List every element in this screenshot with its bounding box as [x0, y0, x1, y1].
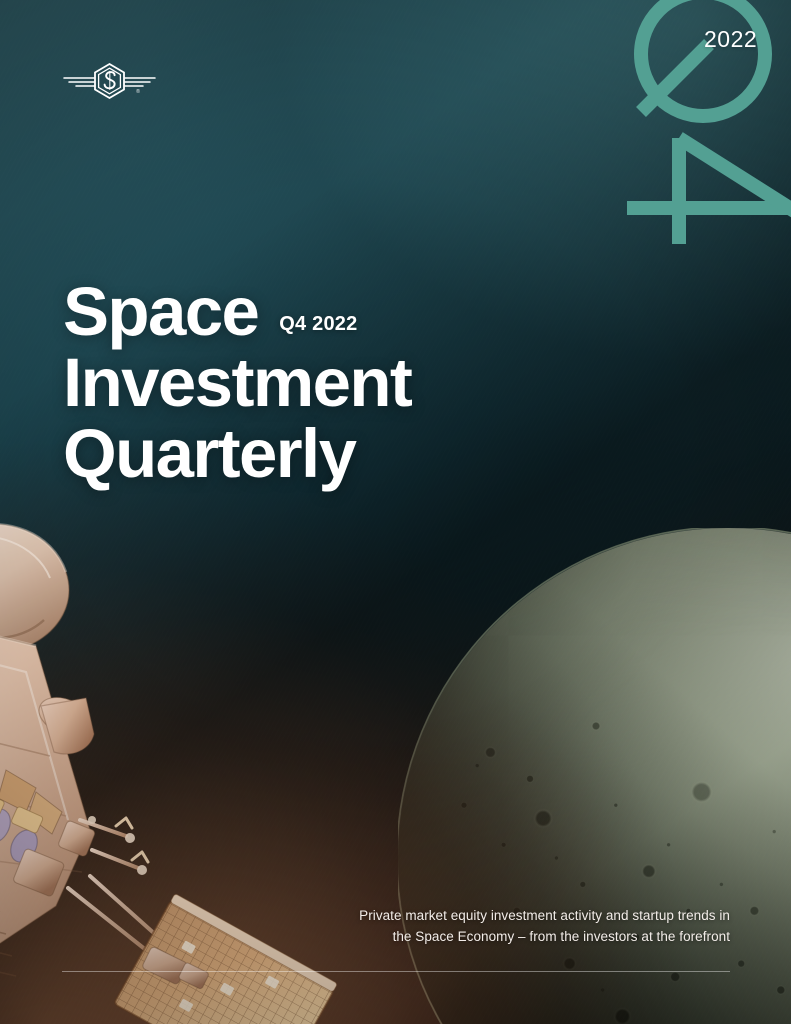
title-first-row: Space Q4 2022 — [63, 276, 703, 347]
subtitle-line-1: Private market equity investment activit… — [260, 905, 730, 926]
trademark-symbol: ® — [136, 88, 140, 95]
brand-logo[interactable]: ® — [63, 62, 156, 100]
cover-subtitle: Private market equity investment activit… — [260, 905, 730, 947]
page-title-line-2: Investment — [63, 347, 703, 418]
year-label: 2022 — [704, 26, 757, 53]
cover-title-block: Space Q4 2022 Investment Quarterly — [63, 276, 703, 489]
quarter-kicker-label: Q4 2022 — [279, 313, 357, 336]
horizontal-divider-rule — [62, 971, 730, 972]
page-title-line-1: Space — [63, 276, 258, 347]
background-grain-texture — [0, 0, 791, 1024]
report-cover-page: 2022 ® — [0, 0, 791, 1024]
page-title-line-3: Quarterly — [63, 418, 703, 489]
subtitle-line-2: the Space Economy – from the investors a… — [260, 926, 730, 947]
